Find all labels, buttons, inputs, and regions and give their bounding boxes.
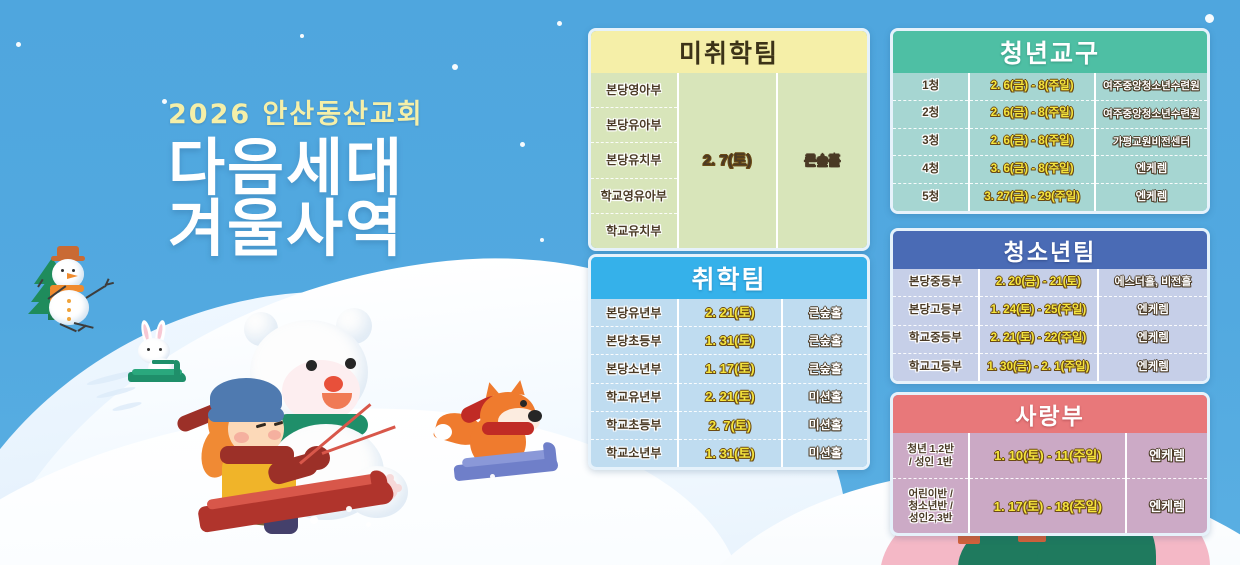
snow-dot [557,21,562,26]
schedule-location: 미션홀 [783,383,867,411]
snow-dot [16,42,21,47]
table-row: 3청 [893,128,968,156]
schedule-date: 2. 21(토) [679,299,782,326]
schedule-location: 엔케렘 [1127,478,1207,533]
column-locations: 큰숲홀 큰숲홀 큰숲홀 미션홀 미션홀 미션홀 [781,299,867,467]
table-title-school: 취학팀 [591,257,867,299]
table-row: 본당유년부 [591,299,677,326]
column-locations: 여주중앙청소년수련원 여주중앙청소년수련원 가평교원비전센터 엔케렘 엔케렘 [1094,73,1207,211]
table-title-love: 사랑부 [893,395,1207,433]
snow-dot [162,99,167,104]
schedule-location: 가평교원비전센터 [1096,128,1207,156]
headline-year: 2026 안산동산교회 [168,92,424,131]
schedule-location: 여주중앙청소년수련원 [1096,73,1207,100]
schedule-location: 큰숲홀 [783,299,867,326]
schedule-date: 2. 6(금) - 8(주일) [970,73,1094,100]
column-locations: 큰숲홀 [776,73,867,248]
table-row: 본당초등부 [591,326,677,354]
schedule-table-preschool: 미취학팀 본당영아부 본당유아부 본당유치부 학교영유아부 학교유치부 2. 7… [588,28,870,251]
schedule-date: 3. 6(금) - 8(주일) [970,155,1094,183]
table-row: 본당소년부 [591,354,677,382]
table-row: 본당유아부 [591,107,677,142]
schedule-date: 2. 21(토) - 22(주일) [980,325,1097,353]
poster-canvas: 2026 안산동산교회 다음세대 겨울사역 미취학팀 본당영아부 본당유아부 본… [0,0,1240,565]
schedule-date: 1. 31(토) [679,326,782,354]
schedule-date: 2. 21(토) [679,383,782,411]
schedule-date: 2. 6(금) - 8(주일) [970,128,1094,156]
schedule-location: 큰숲홀 [778,73,867,248]
schedule-table-youth: 청소년팀 본당중등부 본당고등부 학교중등부 학교고등부 2. 20(금) - … [890,228,1210,384]
schedule-date: 1. 17(토) - 18(주일) [970,478,1125,533]
column-labels: 본당영아부 본당유아부 본당유치부 학교영유아부 학교유치부 [591,73,677,248]
column-dates: 2. 7(토) [677,73,776,248]
snow-dot [1205,14,1214,23]
schedule-date: 2. 6(금) - 8(주일) [970,100,1094,128]
schedule-date: 1. 10(토) - 11(주일) [970,433,1125,478]
schedule-location: 엔케렘 [1096,183,1207,211]
schedule-location: 엔케렘 [1099,325,1207,353]
table-row: 어린이반 / 청소년반 / 성인2,3반 [893,478,968,533]
schedule-location: 엔케렘 [1099,296,1207,324]
fox-on-sled-icon [436,366,566,476]
schedule-location: 엔케렘 [1099,353,1207,381]
table-title-preschool: 미취학팀 [591,31,867,73]
schedule-date: 1. 24(토) - 25(주일) [980,296,1097,324]
column-labels: 청년 1,2반 / 성인 1반 어린이반 / 청소년반 / 성인2,3반 [893,433,968,533]
schedule-table-school: 취학팀 본당유년부 본당초등부 본당소년부 학교유년부 학교초등부 학교소년부 … [588,254,870,470]
column-labels: 1청 2청 3청 4청 5청 [893,73,968,211]
schedule-location: 여주중앙청소년수련원 [1096,100,1207,128]
schedule-location: 미션홀 [783,439,867,467]
schedule-location: 엔케렘 [1096,155,1207,183]
table-row: 학교유년부 [591,383,677,411]
column-labels: 본당중등부 본당고등부 학교중등부 학교고등부 [893,269,978,381]
table-row: 학교중등부 [893,325,978,353]
table-row: 학교소년부 [591,439,677,467]
headline-line-1: 다음세대 [168,134,404,203]
schedule-date: 2. 7(토) [679,73,776,248]
snow-dot [520,142,525,147]
table-title-young-adult: 청년교구 [893,31,1207,73]
schedule-location: 큰숲홀 [783,354,867,382]
snow-dot [452,64,458,70]
schedule-date: 3. 27(금) - 29(주일) [970,183,1094,211]
table-title-youth: 청소년팀 [893,231,1207,269]
schedule-location: 엔케렘 [1127,433,1207,478]
column-dates: 2. 6(금) - 8(주일) 2. 6(금) - 8(주일) 2. 6(금) … [968,73,1094,211]
schedule-table-love: 사랑부 청년 1,2반 / 성인 1반 어린이반 / 청소년반 / 성인2,3반… [890,392,1210,536]
table-row: 본당중등부 [893,269,978,296]
schedule-date: 2. 7(토) [679,411,782,439]
column-dates: 1. 10(토) - 11(주일) 1. 17(토) - 18(주일) [968,433,1125,533]
schedule-location: 큰숲홀 [783,326,867,354]
schedule-date: 1. 17(토) [679,354,782,382]
schedule-location: 미션홀 [783,411,867,439]
table-row: 학교영유아부 [591,178,677,213]
table-row: 4청 [893,155,968,183]
headline-line-2: 겨울사역 [168,200,424,261]
table-row: 5청 [893,183,968,211]
column-dates: 2. 20(금) - 21(토) 1. 24(토) - 25(주일) 2. 21… [978,269,1097,381]
table-row: 본당유치부 [591,142,677,177]
column-locations: 에스더홀, 비전홀 엔케렘 엔케렘 엔케렘 [1097,269,1207,381]
table-row: 본당영아부 [591,73,677,107]
schedule-date: 1. 31(토) [679,439,782,467]
table-row: 1청 [893,73,968,100]
table-row: 학교초등부 [591,411,677,439]
schedule-date: 2. 20(금) - 21(토) [980,269,1097,296]
snowman-icon [36,252,114,336]
schedule-date: 1. 30(금) - 2. 1(주일) [980,353,1097,381]
table-row: 학교유치부 [591,213,677,248]
table-row: 2청 [893,100,968,128]
schedule-table-young-adult: 청년교구 1청 2청 3청 4청 5청 2. 6(금) - 8(주일) 2. 6… [890,28,1210,214]
table-row: 청년 1,2반 / 성인 1반 [893,433,968,478]
column-labels: 본당유년부 본당초등부 본당소년부 학교유년부 학교초등부 학교소년부 [591,299,677,467]
snow-dot [300,34,304,38]
column-locations: 엔케렘 엔케렘 [1125,433,1207,533]
table-row: 본당고등부 [893,296,978,324]
table-row: 학교고등부 [893,353,978,381]
snow-dot [540,238,544,242]
column-dates: 2. 21(토) 1. 31(토) 1. 17(토) 2. 21(토) 2. 7… [677,299,782,467]
page-title: 2026 안산동산교회 다음세대 겨울사역 [168,92,424,261]
schedule-location: 에스더홀, 비전홀 [1099,269,1207,296]
